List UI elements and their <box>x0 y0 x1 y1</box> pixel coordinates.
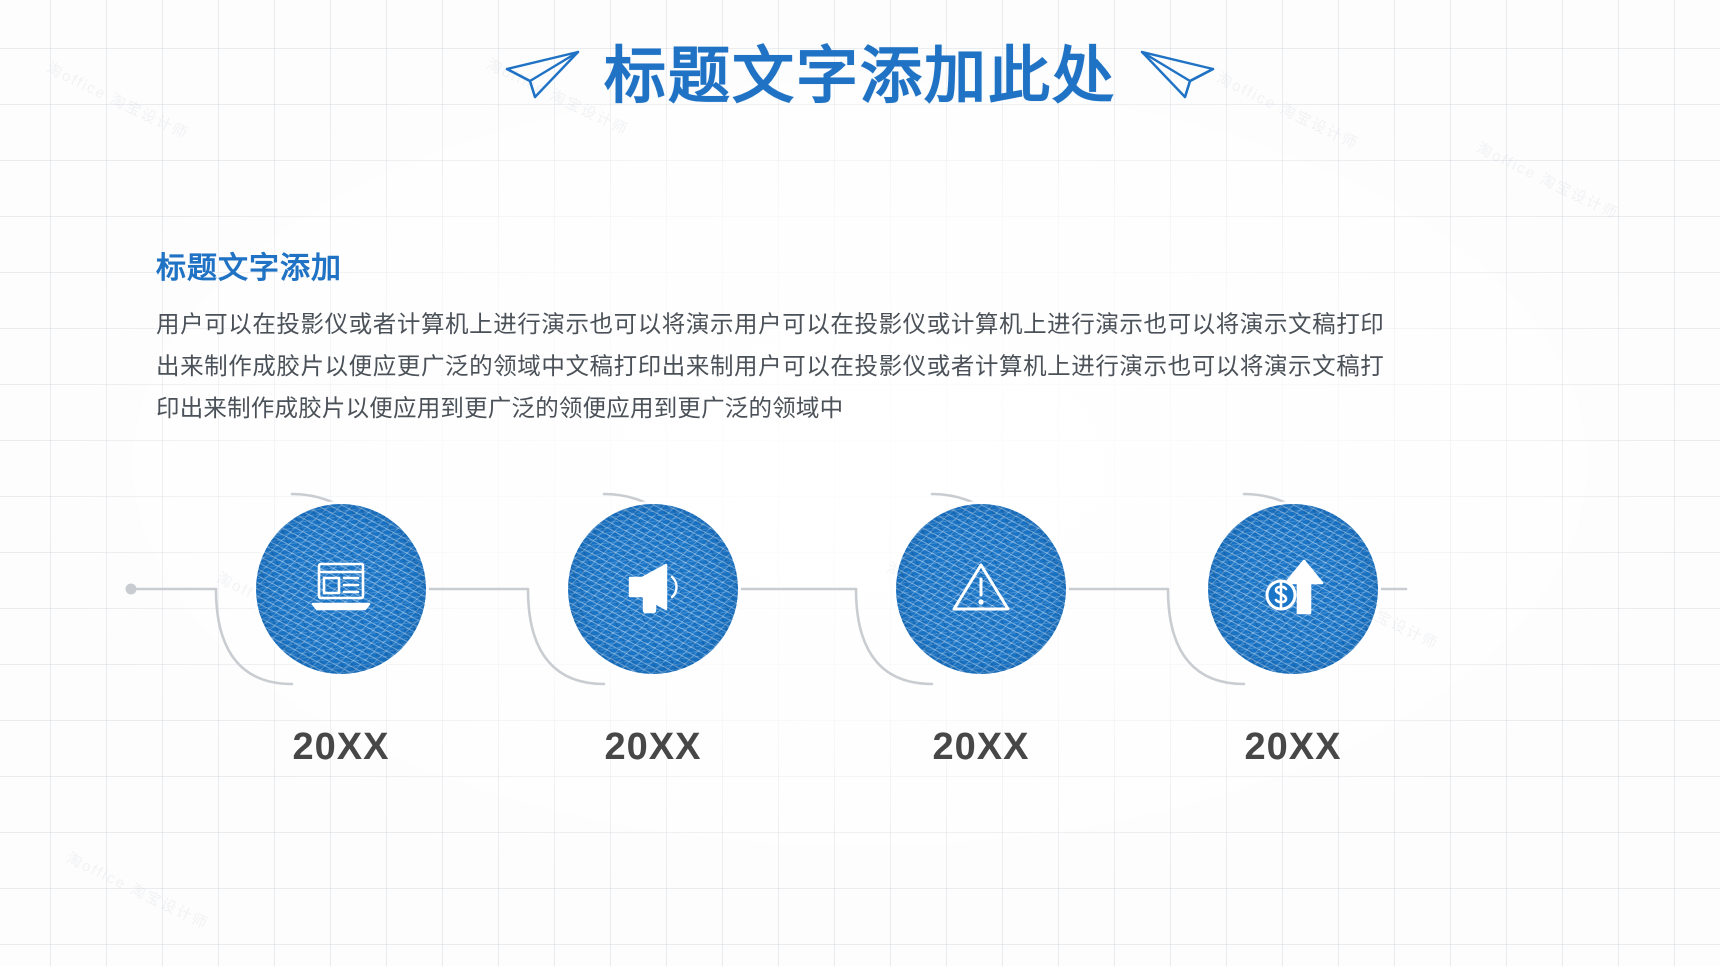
dollar-growth-arrow-icon <box>1262 557 1324 622</box>
timeline-bubble[interactable] <box>896 504 1066 674</box>
laptop-presentation-icon <box>310 559 372 620</box>
timeline-node[interactable]: 20XX <box>256 504 426 769</box>
timeline-bubble[interactable] <box>256 504 426 674</box>
body-block: 标题文字添加 用户可以在投影仪或者计算机上进行演示也可以将演示用户可以在投影仪或… <box>156 243 1396 429</box>
presentation-slide: 淘office 淘宝设计师 淘office 淘宝设计师 淘office 淘宝设计… <box>0 0 1720 966</box>
section-subtitle: 标题文字添加 <box>156 243 1396 287</box>
title-row: 标题文字添加此处 <box>0 44 1720 109</box>
paper-plane-icon <box>504 48 582 105</box>
page-title: 标题文字添加此处 <box>604 44 1116 109</box>
timeline-year: 20XX <box>1208 726 1378 769</box>
timeline-bubble[interactable] <box>568 504 738 674</box>
warning-triangle-icon <box>950 559 1012 620</box>
section-paragraph: 用户可以在投影仪或者计算机上进行演示也可以将演示用户可以在投影仪或计算机上进行演… <box>156 303 1384 429</box>
timeline-bubble[interactable] <box>1208 504 1378 674</box>
timeline-year: 20XX <box>256 726 426 769</box>
timeline-node[interactable]: 20XX <box>1208 504 1378 769</box>
timeline-year: 20XX <box>568 726 738 769</box>
timeline-year: 20XX <box>896 726 1066 769</box>
watermark: 淘office 淘宝设计师 <box>1473 137 1622 224</box>
timeline: 20XX 20XX <box>0 452 1720 872</box>
timeline-node[interactable]: 20XX <box>896 504 1066 769</box>
megaphone-icon <box>622 558 684 621</box>
timeline-node[interactable]: 20XX <box>568 504 738 769</box>
paper-plane-icon <box>1138 48 1216 105</box>
